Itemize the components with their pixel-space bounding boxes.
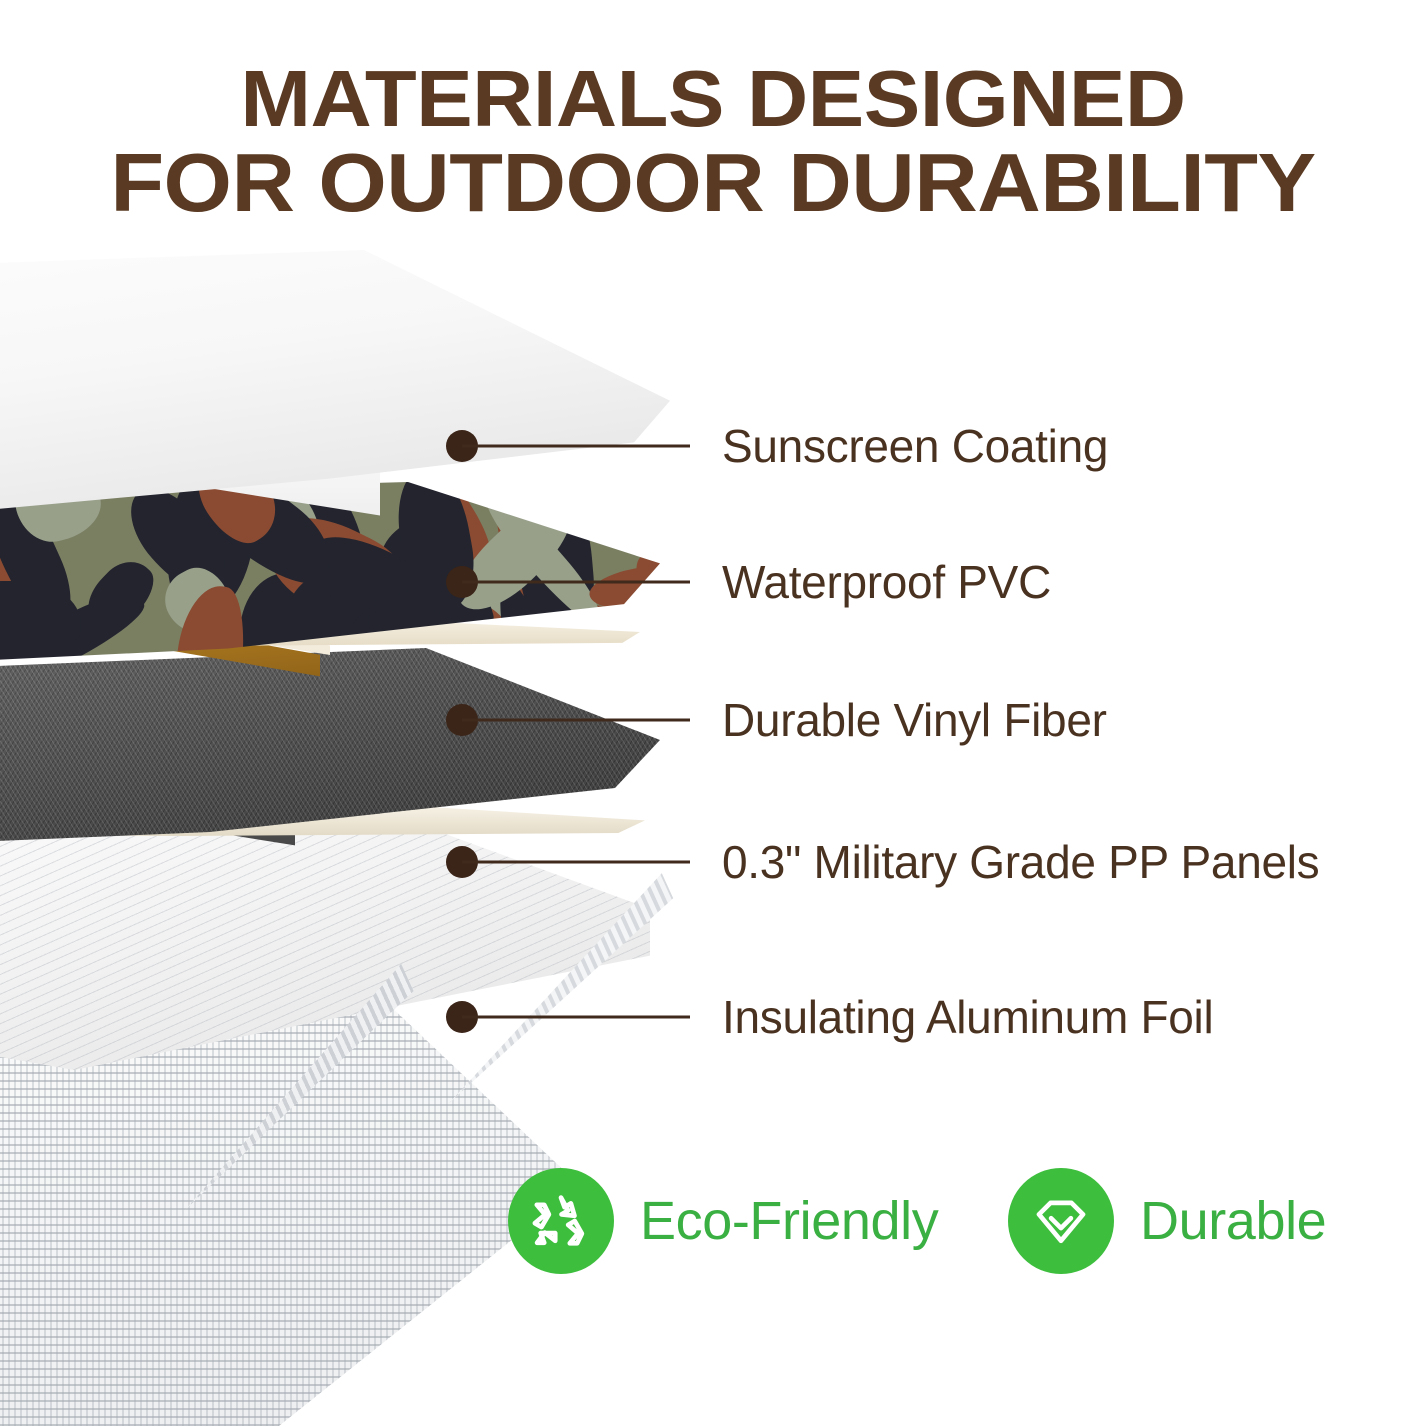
callout-line-pp-panels	[462, 861, 690, 864]
callout-label-sunscreen-coating: Sunscreen Coating	[722, 419, 1108, 473]
page-title: MATERIALS DESIGNED FOR OUTDOOR DURABILIT…	[0, 58, 1426, 226]
feature-badges: Eco-Friendly Durable	[0, 1168, 1426, 1288]
badge-eco-friendly[interactable]: Eco-Friendly	[508, 1168, 938, 1274]
badge-label: Durable	[1140, 1190, 1326, 1252]
callout-line-aluminum-foil	[462, 1016, 690, 1019]
callout-label-waterproof-pvc: Waterproof PVC	[722, 555, 1051, 609]
recycle-icon	[508, 1168, 614, 1274]
callout-line-durable-vinyl-fiber	[462, 719, 690, 722]
headline-line-1: MATERIALS DESIGNED	[0, 58, 1426, 140]
layer-sunscreen-coating	[0, 250, 670, 510]
callout-label-aluminum-foil: Insulating Aluminum Foil	[722, 990, 1213, 1044]
gem-check-icon	[1008, 1168, 1114, 1274]
callout-label-pp-panels: 0.3" Military Grade PP Panels	[722, 835, 1319, 889]
callout-line-waterproof-pvc	[462, 581, 690, 584]
headline-line-2: FOR OUTDOOR DURABILITY	[0, 140, 1426, 225]
callout-line-sunscreen-coating	[462, 445, 690, 448]
badge-label: Eco-Friendly	[640, 1190, 938, 1252]
infographic-canvas: MATERIALS DESIGNED FOR OUTDOOR DURABILIT…	[0, 0, 1426, 1426]
badge-durable[interactable]: Durable	[1008, 1168, 1326, 1274]
callout-label-durable-vinyl-fiber: Durable Vinyl Fiber	[722, 693, 1107, 747]
